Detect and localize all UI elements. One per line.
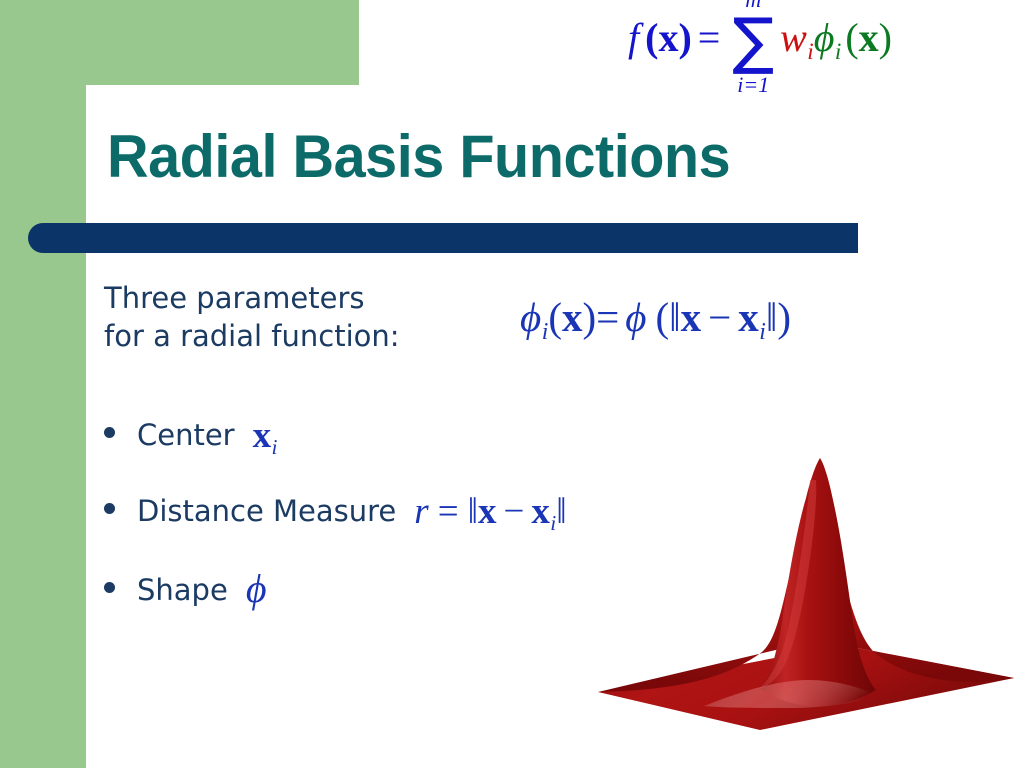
title-underline-bar [28, 223, 858, 253]
bullet-label-center: Center [137, 418, 235, 452]
equation-lhs-arg: x [658, 15, 678, 60]
radial-vector-xi: x [738, 294, 759, 340]
radial-phi-argument: x [562, 294, 583, 340]
radial-norm-open: (‖ [655, 294, 680, 340]
radial-phi-symbol-2: ϕ [625, 294, 646, 340]
radial-vector-xi-subscript: i [759, 319, 766, 345]
bullet-dot-icon [104, 427, 115, 438]
list-item: Center xi [104, 415, 794, 491]
summation-upper-limit: m [745, 0, 761, 9]
center-vector-subscript: i [272, 435, 278, 459]
distance-norm-close: ‖ [556, 491, 566, 532]
bullet-label-shape: Shape [137, 573, 228, 607]
equation-phi-arg: x [859, 15, 879, 60]
presentation-slide: f(x)= m ∑ i=1 wiϕi(x) Radial Basis Funct… [0, 0, 1024, 768]
radial-norm-close: ‖) [766, 294, 791, 340]
green-accent-column [0, 0, 86, 768]
distance-minus-sign: − [503, 491, 524, 532]
distance-equals-sign: = [438, 491, 459, 532]
list-item: Shape ϕ [104, 567, 794, 643]
shape-phi-symbol: ϕ [246, 566, 267, 611]
equation-phi: ϕ [814, 15, 835, 60]
equation-phi-subscript: i [835, 39, 841, 65]
radial-equals-sign: = [596, 294, 619, 340]
list-item: Distance Measure r=‖x−xi‖ [104, 491, 794, 567]
radial-phi-symbol: ϕ [520, 294, 541, 340]
radial-minus-sign: − [708, 294, 731, 340]
distance-norm-open: ‖ [468, 491, 478, 532]
bullet-math-distance-measure: r=‖x−xi‖ [414, 493, 566, 534]
sigma-glyph: ∑ [732, 4, 774, 77]
bullet-dot-icon [104, 503, 115, 514]
bullet-dot-icon [104, 582, 115, 593]
summation-lower-limit: i=1 [737, 76, 769, 94]
bullet-math-shape: ϕ [246, 569, 267, 609]
summation-symbol: m ∑ i=1 [732, 16, 774, 67]
center-vector-x: x [253, 415, 272, 456]
bullet-label-distance-measure: Distance Measure [137, 494, 396, 528]
equation-equals-sign: = [698, 15, 721, 60]
equation-weight-w: w [780, 15, 807, 60]
page-title: Radial Basis Functions [107, 122, 730, 191]
equation-radial-function-definition: ϕi(x)=ϕ(‖x−xi‖) [520, 297, 791, 344]
distance-vector-x: x [478, 491, 497, 532]
radial-vector-x: x [681, 294, 702, 340]
distance-r-symbol: r [414, 491, 428, 532]
distance-vector-xi: x [531, 491, 550, 532]
lead-paragraph: Three parameters for a radial function: [104, 280, 400, 355]
parameter-bullet-list: Center xi Distance Measure r=‖x−xi‖ Shap… [104, 415, 794, 643]
equation-lhs-f: f [628, 15, 639, 60]
equation-rbf-expansion: f(x)= m ∑ i=1 wiϕi(x) [628, 16, 892, 67]
radial-phi-subscript: i [542, 319, 549, 345]
bullet-math-center: xi [253, 417, 278, 458]
